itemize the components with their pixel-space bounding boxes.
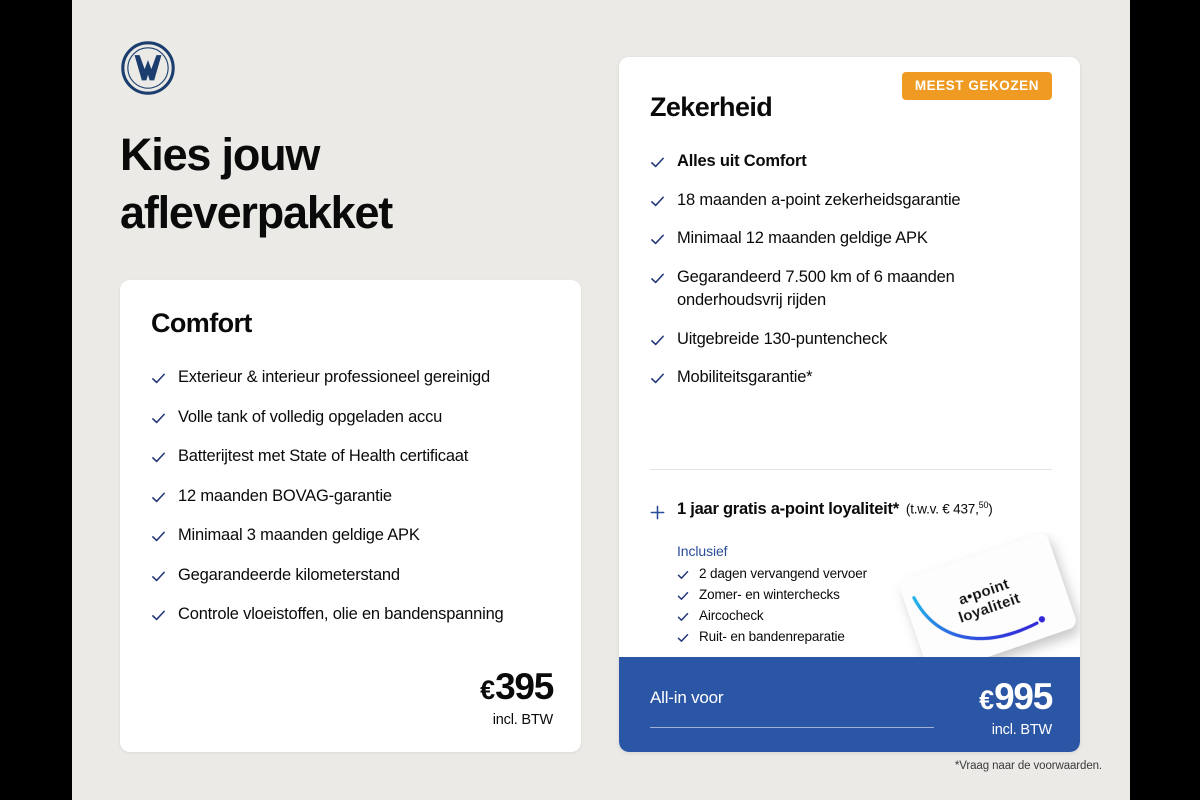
zekerheid-price-block: €995 incl. BTW: [979, 677, 1052, 738]
list-item: Volle tank of volledig opgeladen accu: [151, 406, 555, 430]
letterbox-bar-left: [0, 0, 72, 800]
check-icon: [151, 569, 166, 584]
section-divider: [650, 469, 1052, 470]
check-icon: [677, 610, 689, 622]
check-icon: [151, 490, 166, 505]
list-item-label: Minimaal 12 maanden geldige APK: [677, 227, 928, 251]
list-item-label: Zomer- en winterchecks: [699, 587, 840, 602]
list-item-label: Minimaal 3 maanden geldige APK: [178, 524, 420, 548]
status-badge: MEEST GEKOZEN: [902, 72, 1052, 100]
page-title: Kies jouw afleverpakket: [120, 126, 580, 242]
list-item: Zomer- en winterchecks: [677, 587, 867, 602]
list-item: Ruit- en bandenreparatie: [677, 629, 867, 644]
list-item-label: Gegarandeerde kilometerstand: [178, 564, 400, 588]
list-item-label: Mobiliteitsgarantie*: [677, 366, 812, 390]
check-icon: [151, 608, 166, 623]
list-item: Aircocheck: [677, 608, 867, 623]
check-icon: [650, 333, 665, 348]
worth-suffix: ): [988, 502, 992, 517]
list-item: Gegarandeerd 7.500 km of 6 maanden onder…: [650, 266, 1054, 313]
list-item: Controle vloeistoffen, olie en bandenspa…: [151, 603, 555, 627]
list-item: Exterieur & interieur professioneel gere…: [151, 366, 555, 390]
check-icon: [650, 232, 665, 247]
svg-text:loyaliteit: loyaliteit: [957, 590, 1023, 627]
check-icon: [677, 631, 689, 643]
list-item-label: Uitgebreide 130-puntencheck: [677, 328, 887, 352]
list-item: Batterijtest met State of Health certifi…: [151, 445, 555, 469]
list-item-label: 12 maanden BOVAG-garantie: [178, 485, 392, 509]
loyalty-offer-row: 1 jaar gratis a-point loyaliteit* (t.w.v…: [650, 500, 1054, 520]
zekerheid-feature-list: Alles uit Comfort 18 maanden a-point zek…: [650, 150, 1054, 405]
svg-text:a•point: a•point: [956, 576, 1011, 609]
list-item-label: Batterijtest met State of Health certifi…: [178, 445, 468, 469]
zekerheid-price: €995: [979, 677, 1052, 720]
check-icon: [650, 194, 665, 209]
zekerheid-price-footer: All-in voor €995 incl. BTW: [619, 657, 1080, 752]
check-icon: [650, 371, 665, 386]
list-item-label: 18 maanden a-point zekerheidsgarantie: [677, 189, 960, 213]
zekerheid-price-note: incl. BTW: [979, 722, 1052, 738]
check-icon: [151, 371, 166, 386]
list-item: Uitgebreide 130-puntencheck: [650, 328, 1054, 352]
zekerheid-card-title: Zekerheid: [650, 92, 772, 123]
letterbox-bar-right: [1130, 0, 1200, 800]
inclusief-label: Inclusief: [677, 543, 727, 559]
list-item: Minimaal 12 maanden geldige APK: [650, 227, 1054, 251]
list-item-label: Ruit- en bandenreparatie: [699, 629, 845, 644]
price-amount: 395: [495, 666, 553, 707]
list-item-label: Gegarandeerd 7.500 km of 6 maanden onder…: [677, 266, 1054, 313]
list-item-label: Volle tank of volledig opgeladen accu: [178, 406, 442, 430]
package-card-comfort[interactable]: Comfort Exterieur & interieur profession…: [120, 280, 581, 752]
footer-rule: [650, 727, 934, 728]
allin-label: All-in voor: [650, 688, 723, 708]
list-item: Alles uit Comfort: [650, 150, 1054, 174]
list-item-label: Controle vloeistoffen, olie en bandenspa…: [178, 603, 504, 627]
check-icon: [677, 589, 689, 601]
list-item: 2 dagen vervangend vervoer: [677, 566, 867, 581]
loyalty-benefit-list: 2 dagen vervangend vervoer Zomer- en win…: [677, 566, 867, 650]
loyalty-offer-worth: (t.w.v. € 437,50): [906, 500, 993, 517]
comfort-feature-list: Exterieur & interieur professioneel gere…: [151, 366, 555, 643]
list-item-label: Exterieur & interieur professioneel gere…: [178, 366, 490, 390]
page-title-line-1: Kies jouw: [120, 126, 580, 184]
list-item: Gegarandeerde kilometerstand: [151, 564, 555, 588]
loyalty-card-image: a•point loyaliteit: [888, 532, 1080, 677]
list-item-label: 2 dagen vervangend vervoer: [699, 566, 867, 581]
list-item: 12 maanden BOVAG-garantie: [151, 485, 555, 509]
check-icon: [677, 568, 689, 580]
price-amount: 995: [994, 676, 1052, 717]
check-icon: [650, 271, 665, 286]
list-item: Mobiliteitsgarantie*: [650, 366, 1054, 390]
comfort-price: €395: [480, 667, 553, 710]
list-item-label: Aircocheck: [699, 608, 764, 623]
page-title-line-2: afleverpakket: [120, 184, 580, 242]
check-icon: [151, 450, 166, 465]
list-item: 18 maanden a-point zekerheidsgarantie: [650, 189, 1054, 213]
comfort-price-note: incl. BTW: [480, 712, 553, 728]
comfort-card-title: Comfort: [151, 308, 252, 339]
check-icon: [151, 411, 166, 426]
loyalty-offer-title: 1 jaar gratis a-point loyaliteit*: [677, 500, 899, 519]
plus-icon: [650, 505, 665, 520]
currency-symbol: €: [480, 675, 494, 705]
page-canvas: Kies jouw afleverpakket Comfort Exterieu…: [72, 0, 1130, 800]
comfort-price-block: €395 incl. BTW: [480, 667, 553, 728]
list-item: Minimaal 3 maanden geldige APK: [151, 524, 555, 548]
package-card-zekerheid[interactable]: MEEST GEKOZEN Zekerheid Alles uit Comfor…: [619, 57, 1080, 752]
check-icon: [650, 155, 665, 170]
worth-prefix: (t.w.v. € 437,: [906, 502, 979, 517]
footnote-text: *Vraag naar de voorwaarden.: [955, 760, 1102, 772]
worth-cents: 50: [979, 500, 989, 510]
list-item-label: Alles uit Comfort: [677, 150, 807, 174]
currency-symbol: €: [979, 685, 993, 715]
check-icon: [151, 529, 166, 544]
volkswagen-logo-icon: [120, 40, 176, 96]
